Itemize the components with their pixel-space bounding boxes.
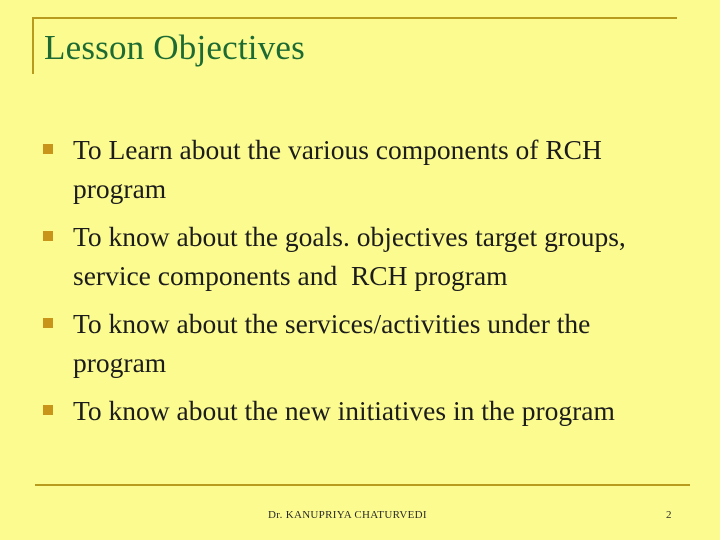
list-item: To know about the goals. objectives targ… (38, 217, 688, 295)
square-bullet-icon (43, 318, 53, 328)
footer-divider (35, 484, 690, 486)
footer-page-number: 2 (666, 509, 672, 521)
objectives-list: To Learn about the various components of… (38, 130, 688, 439)
list-item: To know about the new initiatives in the… (38, 391, 688, 430)
square-bullet-icon (43, 231, 53, 241)
square-bullet-icon (43, 144, 53, 154)
presentation-slide: Lesson Objectives To Learn about the var… (0, 0, 720, 540)
page-title: Lesson Objectives (44, 26, 305, 70)
footer-author-label: Dr. KANUPRIYA CHATURVEDI (268, 509, 427, 521)
list-item-label: To know about the services/activities un… (73, 304, 688, 382)
list-item: To Learn about the various components of… (38, 130, 688, 208)
list-item: To know about the services/activities un… (38, 304, 688, 382)
list-item-label: To know about the goals. objectives targ… (73, 217, 688, 295)
list-item-label: To Learn about the various components of… (73, 130, 688, 208)
list-item-label: To know about the new initiatives in the… (73, 391, 688, 430)
square-bullet-icon (43, 405, 53, 415)
